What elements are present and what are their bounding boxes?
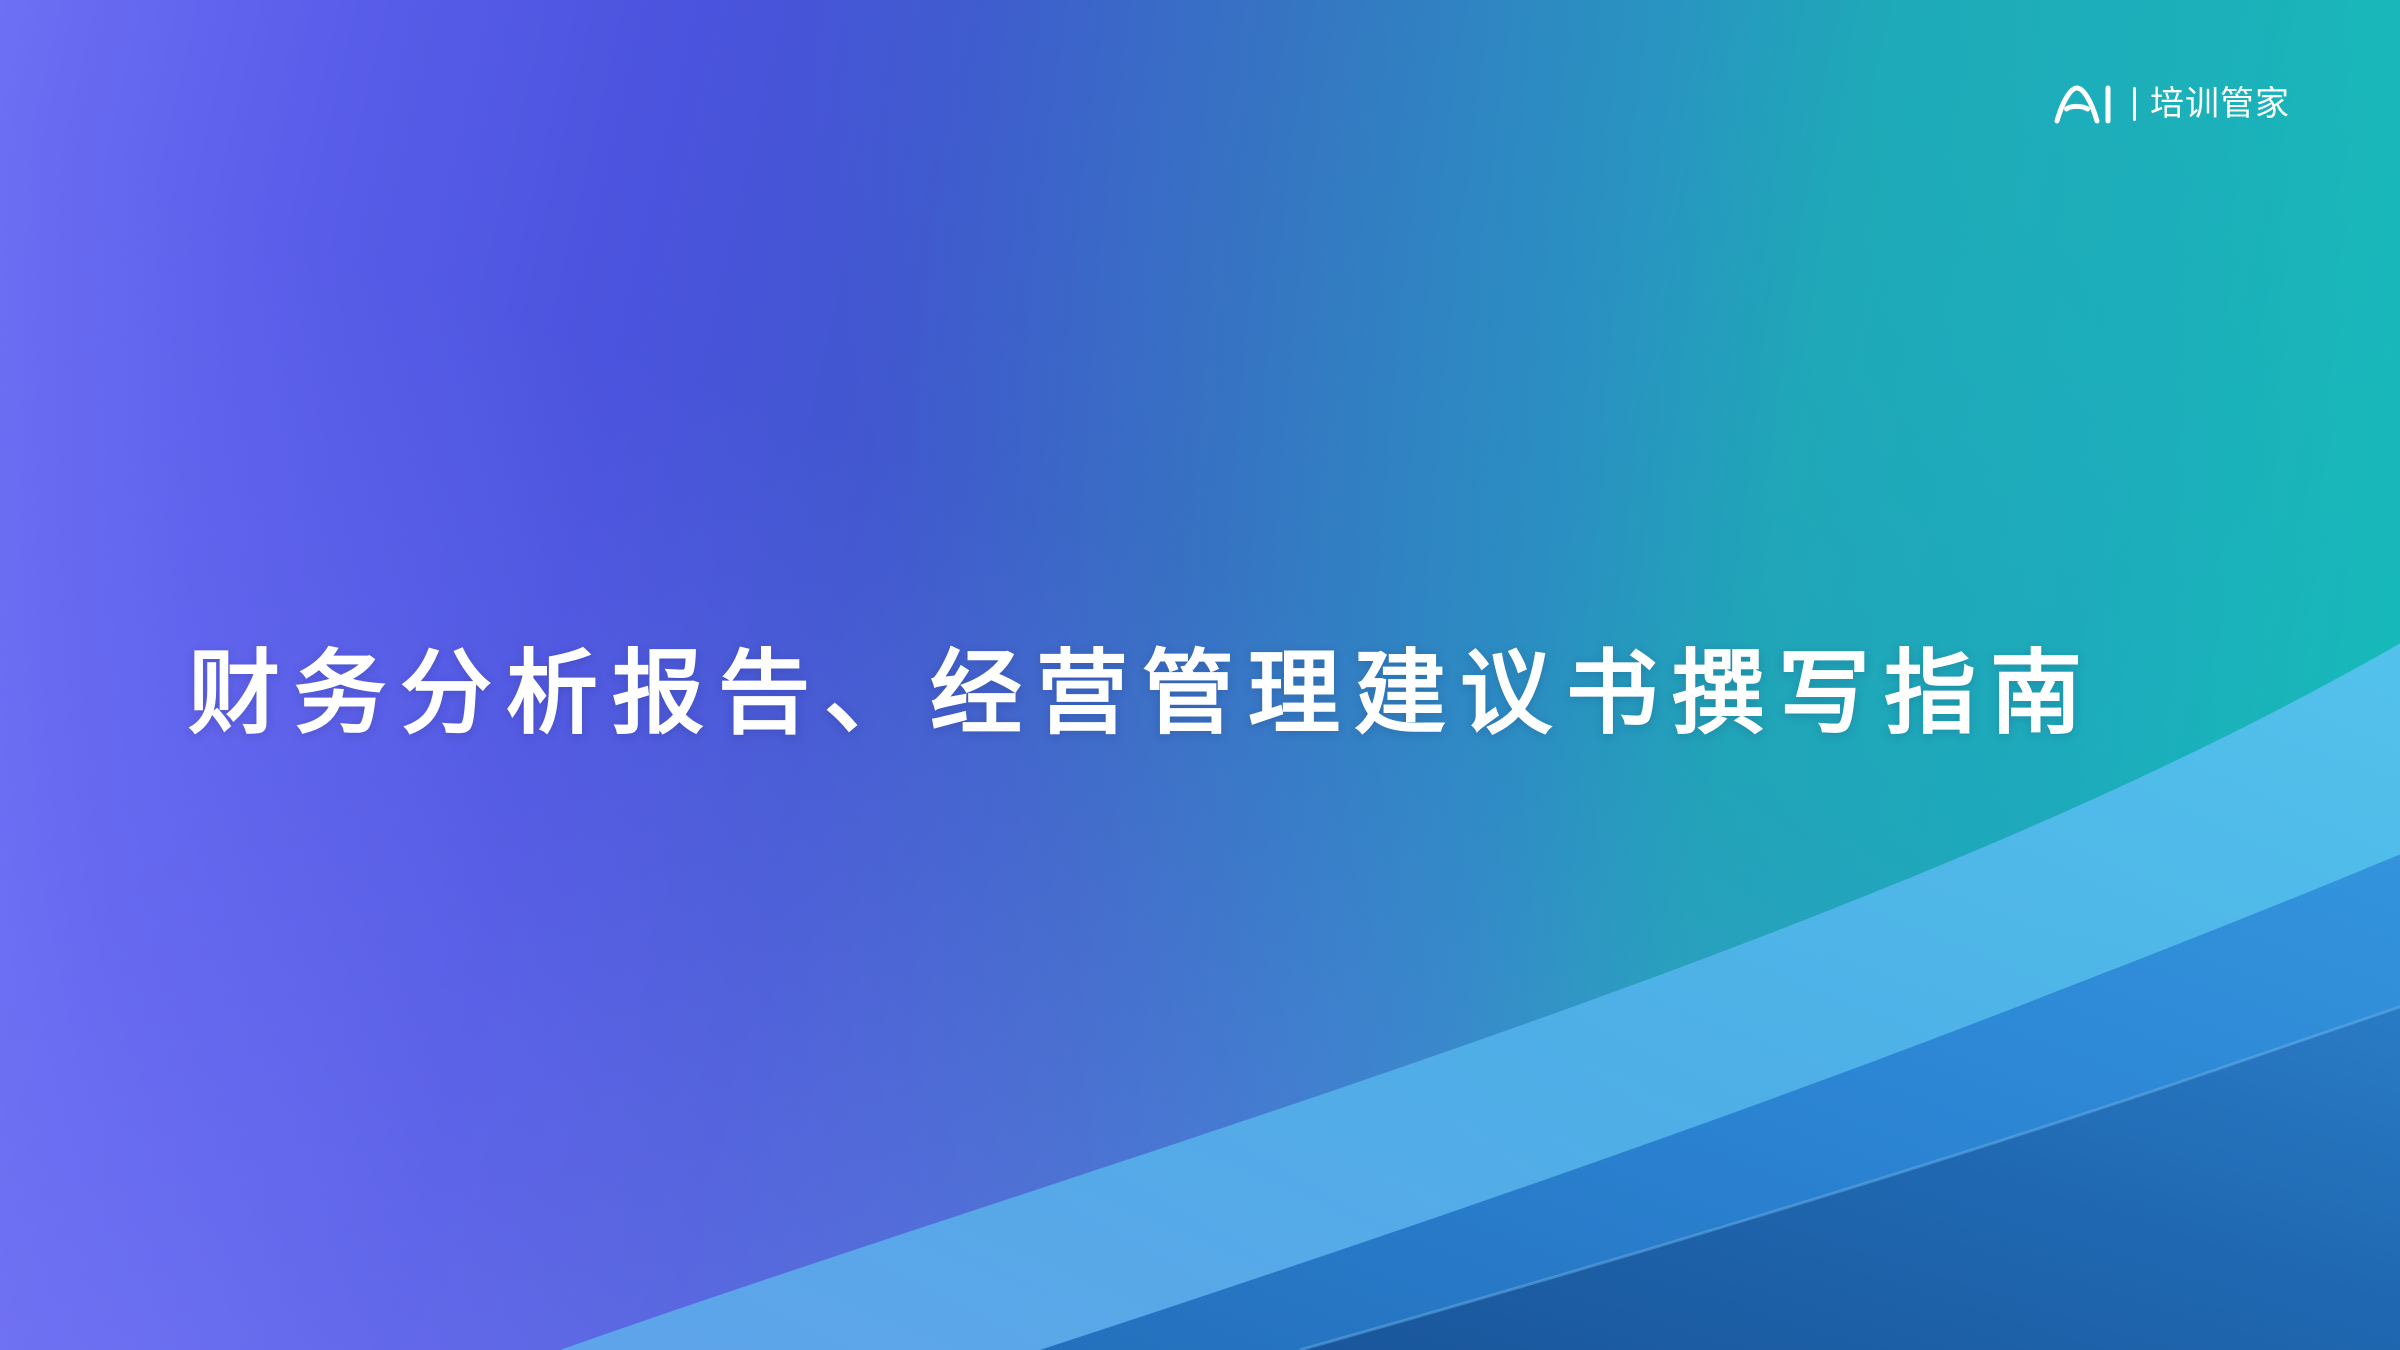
- slide-title: 财务分析报告、经营管理建议书撰写指南: [188, 648, 2088, 740]
- slide-canvas: 培训管家 财务分析报告、经营管理建议书撰写指南: [0, 0, 2400, 1350]
- brand-logo: 培训管家: [2053, 84, 2290, 124]
- ai-monogram-icon: [2053, 84, 2119, 124]
- logo-divider: [2133, 87, 2136, 121]
- logo-text: 培训管家: [2150, 87, 2290, 121]
